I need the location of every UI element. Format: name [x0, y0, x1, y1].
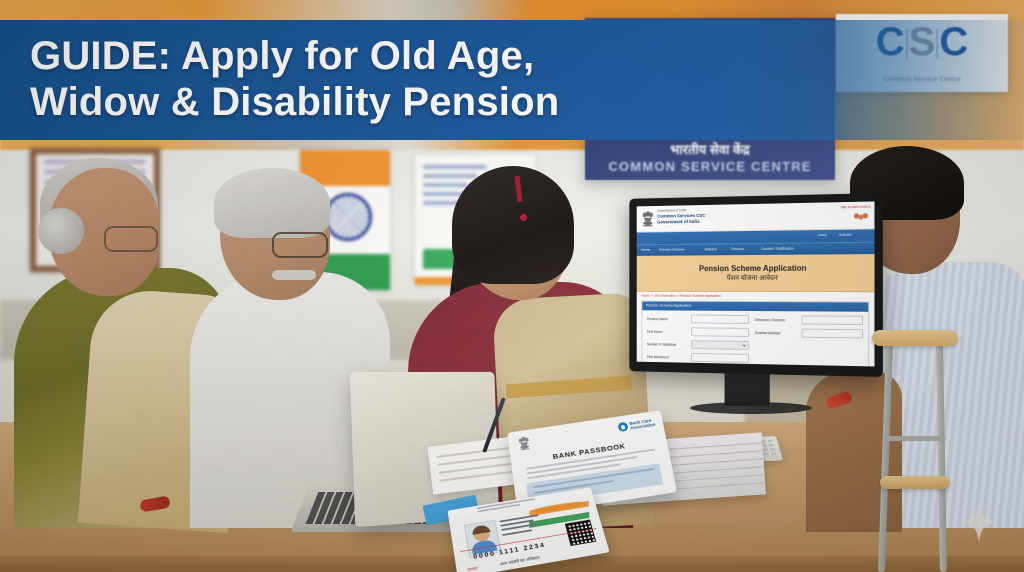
- ashoka-emblem-icon: [518, 435, 531, 451]
- field-pick-mentioned: Pick Mentioned: [647, 352, 749, 363]
- panel-title: Pension Scheme Application: [646, 303, 691, 307]
- field-label: Electronic Character: [755, 318, 799, 322]
- spacer: [755, 341, 863, 352]
- field-label: Enabled Aadhaar: [755, 331, 799, 336]
- panel-header: Pension Scheme Application: [642, 302, 868, 312]
- nav-item-pension[interactable]: Pension: [731, 247, 744, 251]
- decorative-motif-icon: [854, 211, 869, 224]
- title-line-1: GUIDE: Apply for Old Age,: [30, 34, 534, 78]
- utility-about[interactable]: Statutes: [839, 233, 852, 237]
- aadhaar-footer-hindi: आधार: [467, 566, 478, 572]
- site-title-line-2: Government of India: [657, 219, 699, 225]
- hero-title-en: Pension Scheme Application: [699, 263, 807, 272]
- monitor-screen[interactable]: Government of India Common Services CSC …: [637, 201, 875, 366]
- bank-logo-text: Bank Care Association: [629, 418, 656, 431]
- board-hindi-line-2: भारतीय सेवा केंद्र: [585, 140, 835, 158]
- first-name-input[interactable]: [691, 327, 749, 337]
- crutch-left-strut: [878, 344, 893, 572]
- skip-to-content-link[interactable]: Skip to main content: [840, 205, 870, 210]
- site-title-line-1: Common Services CSC: [657, 213, 705, 219]
- board-english-line: COMMON SERVICE CENTRE: [585, 159, 835, 174]
- number-statistical-select[interactable]: [691, 340, 749, 350]
- field-first-name: First Name: [647, 327, 749, 337]
- bank-logo-mark-icon: [617, 422, 628, 433]
- breadcrumb-text[interactable]: Home > Link Information > Pension Scheme…: [641, 294, 720, 298]
- form-row: Pick Mentioned: [647, 352, 863, 365]
- utility-home[interactable]: Home: [818, 233, 827, 237]
- assistant-bindi: [520, 214, 527, 221]
- crutch-hand-grip: [880, 476, 950, 489]
- underarm-crutch: [872, 330, 958, 572]
- field-electronic-character: Electronic Character: [755, 315, 863, 325]
- field-label: Number in Statistical: [647, 342, 688, 347]
- page-hero: Pension Scheme Application पेंशन योजना आ…: [637, 254, 875, 292]
- form-row: First Name Enabled Aadhaar: [647, 327, 863, 339]
- bank-logo: Bank Care Association: [617, 418, 656, 433]
- field-enabled-aadhaar: Enabled Aadhaar: [755, 328, 863, 338]
- crutch-right-strut: [936, 344, 947, 572]
- crutch-arm-pad: [872, 330, 958, 346]
- ashoka-emblem-icon: [642, 210, 653, 228]
- title-line-2: Widow & Disability Pension: [30, 80, 559, 124]
- elderly-man-glasses: [272, 232, 328, 258]
- page-title: GUIDE: Apply for Old Age, Widow & Disabi…: [0, 20, 1024, 125]
- form-row: Pension Name Electronic Character: [647, 314, 863, 325]
- nav-item-pension-scheme[interactable]: Pension Scheme: [659, 248, 685, 252]
- panel-body: Pension Name Electronic Character First …: [642, 310, 868, 366]
- main-navigation: Home Pension Scheme Statutes Pension Gaz…: [637, 242, 875, 256]
- title-banner: GUIDE: Apply for Old Age, Widow & Disabi…: [0, 20, 1024, 140]
- pension-name-input[interactable]: [691, 315, 749, 324]
- field-pension-name: Pension Name: [647, 314, 749, 324]
- nav-item-statutes[interactable]: Statutes: [704, 247, 717, 251]
- application-form-panel: Pension Scheme Application Pension Name …: [641, 301, 869, 367]
- breadcrumb: Home > Link Information > Pension Scheme…: [637, 292, 875, 302]
- desktop-monitor: Government of India Common Services CSC …: [629, 193, 883, 377]
- assistant-hair: [452, 166, 574, 284]
- promotional-graphic: सत्यमेव जयते सामान्य सेवा केंद्र भारतीय …: [0, 0, 1024, 572]
- hero-title-hi: पेंशन योजना आवेदन: [727, 273, 778, 282]
- site-gov-small: Government of India: [657, 208, 686, 212]
- form-actions: Continue Verify: [647, 365, 863, 367]
- field-number-statistical: Number in Statistical: [647, 339, 749, 349]
- crutch-cross-band: [884, 436, 946, 441]
- elderly-man-hair: [214, 168, 330, 238]
- elderly-woman-bun: [38, 208, 84, 254]
- elderly-woman-glasses: [104, 226, 158, 252]
- monitor-stand: [725, 372, 770, 406]
- field-label: Pick Mentioned: [647, 355, 688, 360]
- nav-item-home[interactable]: Home: [641, 248, 650, 252]
- sparkle-watermark-icon: [962, 502, 996, 542]
- elderly-man-moustache: [272, 270, 316, 280]
- nav-item-gazette[interactable]: Gazette / Notification: [761, 247, 794, 251]
- pick-mentioned-input[interactable]: [691, 353, 749, 363]
- form-row: Number in Statistical: [647, 339, 863, 351]
- aadhaar-detail-lines: [499, 514, 542, 538]
- spacer: [755, 354, 863, 365]
- enabled-aadhaar-input[interactable]: [802, 329, 863, 339]
- site-header: Government of India Common Services CSC …: [637, 201, 875, 232]
- field-label: Pension Name: [647, 317, 688, 321]
- field-label: First Name: [647, 329, 688, 333]
- electronic-character-input[interactable]: [802, 315, 863, 325]
